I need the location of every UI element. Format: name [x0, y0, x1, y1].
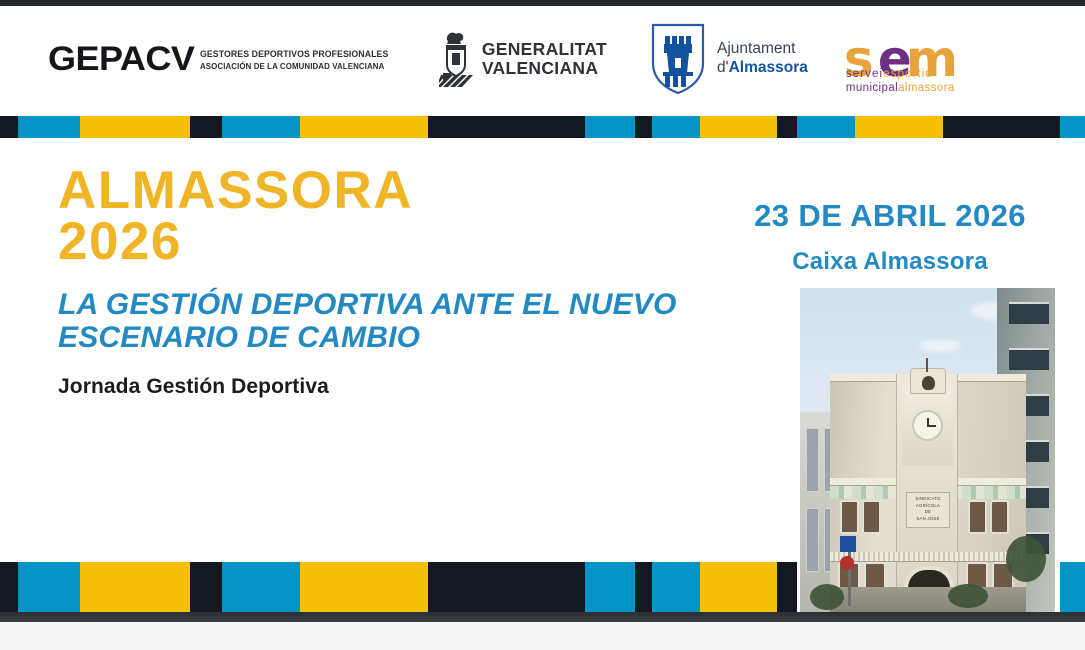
photo-window: [1009, 302, 1049, 324]
photo-clock-face: [914, 412, 941, 439]
band-segment: [1060, 116, 1085, 138]
almassora-shield-icon: [649, 22, 707, 96]
band-segment: [428, 562, 585, 618]
decorative-color-band-top: [0, 116, 1085, 138]
logo-ajuntament-almassora: Ajuntament d'Almassora: [649, 22, 808, 96]
photo-balcony: [830, 552, 1026, 561]
photo-window: [864, 502, 879, 532]
band-segment: [0, 562, 18, 618]
band-segment: [300, 116, 428, 138]
band-segment: [1060, 562, 1085, 618]
photo-window: [1009, 348, 1049, 370]
photo-window: [970, 502, 985, 532]
sponsor-logo-bar: GEPACV GESTORES DEPORTIVOS PROFESIONALES…: [0, 6, 1085, 112]
inscription-line4: SAN JOSÉ: [906, 516, 950, 523]
sem-tagline-line2: municipalalmassora: [846, 82, 955, 94]
photo-building-inscription: SINDICATO AGRÍCOLA DE SAN JOSÉ: [906, 492, 950, 528]
poster-right-column: 23 DE ABRIL 2026 Caixa Almassora: [725, 198, 1055, 276]
band-segment: [700, 116, 777, 138]
band-segment: [80, 116, 190, 138]
band-segment: [700, 562, 777, 618]
band-segment: [652, 562, 700, 618]
ajuntament-line2-prefix: d': [717, 59, 729, 76]
band-segment: [18, 562, 80, 618]
band-shadow: [0, 612, 1085, 622]
band-segment: [80, 562, 190, 618]
inscription-line1: SINDICATO: [906, 496, 950, 503]
photo-cloud: [920, 340, 960, 352]
band-segment: [0, 116, 18, 138]
band-segment: [585, 562, 635, 618]
photo-window: [992, 502, 1007, 532]
band-segment: [222, 562, 300, 618]
decorative-color-band-bottom: [0, 562, 1085, 618]
sem-tagline-servei: servei: [846, 68, 883, 80]
sem-tagline-line1: serveiesportiu: [846, 68, 933, 80]
inscription-line3: DE: [906, 509, 950, 516]
photo-window: [806, 428, 819, 492]
band-segment: [190, 562, 222, 618]
band-segment: [777, 562, 797, 618]
ajuntament-line1: Ajuntament: [717, 40, 808, 59]
logo-sem-servei-esportiu: s e m serveiesportiu municipalalmassora: [844, 26, 966, 92]
sem-tagline-almassora: almassora: [898, 82, 955, 94]
gepacv-tagline-line2: ASOCIACIÓN DE LA COMUNIDAD VALENCIANA: [200, 61, 388, 71]
band-segment: [635, 562, 652, 618]
photo-crosswalk-sign-icon: [840, 536, 856, 552]
poster-left-column: ALMASSORA 2026 LA GESTIÓN DEPORTIVA ANTE…: [58, 166, 678, 399]
generalitat-crest-icon: [439, 31, 473, 87]
band-segment: [428, 116, 585, 138]
photo-spire: [926, 358, 928, 372]
event-date: 23 DE ABRIL 2026: [725, 198, 1055, 234]
band-segment: [797, 116, 855, 138]
generalitat-line2: VALENCIANA: [482, 59, 607, 78]
band-segment: [652, 116, 700, 138]
band-segment: [777, 116, 797, 138]
band-segment: [943, 116, 1060, 138]
poster-title-line2: 2026: [58, 217, 678, 268]
gepacv-tagline-line1: GESTORES DEPORTIVOS PROFESIONALES: [200, 49, 388, 61]
band-segment: [18, 116, 80, 138]
band-segment: [300, 562, 428, 618]
poster-subtitle: LA GESTIÓN DEPORTIVA ANTE EL NUEVO ESCEN…: [58, 288, 678, 355]
band-segment: [222, 116, 300, 138]
photo-bell-icon: [922, 376, 935, 390]
gepacv-wordmark: GEPACV: [48, 40, 194, 79]
band-segment: [635, 116, 652, 138]
footer-gutter: [0, 622, 1085, 650]
generalitat-line1: GENERALITAT: [482, 40, 607, 59]
ajuntament-wordmark: Ajuntament d'Almassora: [717, 40, 808, 78]
band-segment: [190, 116, 222, 138]
inscription-line2: AGRÍCOLA: [906, 503, 950, 510]
event-poster: GEPACV GESTORES DEPORTIVOS PROFESIONALES…: [0, 0, 1085, 650]
gepacv-tagline: GESTORES DEPORTIVOS PROFESIONALES ASOCIA…: [200, 47, 405, 71]
generalitat-wordmark: GENERALITAT VALENCIANA: [482, 40, 607, 78]
logo-gepacv: GEPACV GESTORES DEPORTIVOS PROFESIONALES…: [48, 40, 405, 79]
ajuntament-line2: d'Almassora: [717, 59, 808, 78]
poster-kicker: Jornada Gestión Deportiva: [58, 375, 678, 399]
event-venue: Caixa Almassora: [725, 248, 1055, 276]
photo-window: [842, 502, 857, 532]
ajuntament-line2-bold: Almassora: [729, 59, 808, 76]
sem-tagline-municipal: municipal: [846, 82, 898, 94]
poster-title: ALMASSORA 2026: [58, 166, 678, 268]
sem-tagline-esportiu: esportiu: [883, 68, 933, 80]
band-segment: [585, 116, 635, 138]
logo-generalitat-valenciana: GENERALITAT VALENCIANA: [439, 31, 607, 87]
band-segment: [855, 116, 943, 138]
